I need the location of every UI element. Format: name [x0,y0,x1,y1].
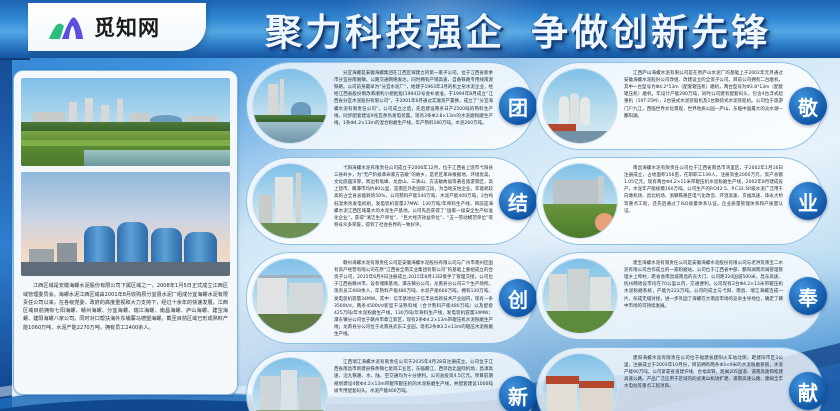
card-ruijiang-text: 江西瑞江海螺水泥有限责任公司于2035年4月28日注册成立。公司位于江西省南昌市… [328,357,493,395]
card-ruijiang[interactable]: 江西瑞江海螺水泥有限责任公司于2035年4月28日注册成立。公司位于江西省南昌市… [246,351,534,411]
blue-storage-silos-photo [21,172,230,277]
lushan-conch-plant-photo [542,68,618,144]
card-fenyi-text: 分宜海螺是安徽海螺集团在江西区域建立的第一家子公司。位于江西省新余市分宜县南厢镇… [328,68,493,127]
card-lushan-text: 江西庐山海螺水泥有限公司是在原庐山水泥厂的基础上于2002年元月通过安徽海螺水泥… [618,68,783,120]
badge-jie: 结 [499,182,537,220]
badge-xian: 献 [789,372,827,410]
card-fenyi[interactable]: 分宜海螺是安徽海螺集团在江西区域建立的第一家子公司。位于江西省新余市分宜县南厢镇… [246,62,534,150]
cement-plant-and-paddy-field-photo [21,78,230,166]
column-right: 江西庐山海螺水泥有限公司是在原庐山水泥厂的基础上于2002年元月通过安徽海螺水泥… [536,62,832,411]
poster-board: 觅知网 聚力科技强企 争做创新先锋 [0,0,840,411]
card-nanchang[interactable]: 南昌海螺水泥有限责任公司位于江西省南昌市湾里区，于2002年1月16日注册成立，… [536,157,824,245]
jianyang-conch-buildings-photo [542,353,618,411]
badge-tuan: 团 [499,87,537,125]
brand-name: 觅知网 [94,12,160,42]
card-jianbao-text: 建宝海螺水泥有限责任公司是安徽海螺水泥股份有限公司与老洪及南宝二水泥有限公司合作… [618,258,783,310]
nanchang-conch-plant-photo [542,163,618,239]
left-intro-panel: 江西区域是安徽海螺水泥股份有限公司下属区域之一，2008年1月5日正式成立江西区… [13,70,238,395]
card-ganzhou-text: 赣州海螺水泥有限责任公司是安徽海螺水泥股份有限公司与广州市南州区国有资产经营有限… [328,258,493,338]
badge-jing: 敬 [789,87,827,125]
card-yiyang[interactable]: 弋阳海螺水泥有限责任公司成立于2006年12月，位于江西省上饶市弋阳县三县岭乡，… [246,157,534,245]
ganzhou-conch-office-photo [252,258,328,334]
page-title: 聚力科技强企 争做创新先锋 [212,1,824,57]
badge-ye: 业 [789,182,827,220]
brand-logo-plate[interactable]: 觅知网 [28,3,206,51]
badge-xin: 新 [499,376,537,411]
badge-feng: 奉 [789,277,827,315]
card-yiyang-text: 弋阳海螺水泥有限责任公司成立于2006年12月，位于江西省上饶市弋阳县三县岭乡，… [328,163,493,229]
page-title-part2: 争做创新先锋 [531,2,771,56]
left-edge-stripe [0,0,12,411]
card-ganzhou[interactable]: 赣州海螺水泥有限责任公司是安徽海螺水泥股份有限公司与广州市南州区国有资产经营有限… [246,252,534,344]
fenyi-conch-plant-photo [252,68,328,144]
left-panel-body-text: 江西区域是安徽海螺水泥股份有限公司下属区域之一，2008年1月5日正式成立江西区… [21,282,230,332]
card-jianyang[interactable]: 建阳海螺水泥有限责任公司位于福建省建阳火车站北侧，距建阳市区3公里，注册成立于2… [536,347,824,411]
poster-header: 觅知网 聚力科技强企 争做创新先锋 [0,0,840,58]
card-jianbao[interactable]: 建宝海螺水泥有限责任公司是安徽海螺水泥股份有限公司与老洪及南宝二水泥有限公司合作… [536,252,824,340]
card-lushan[interactable]: 江西庐山海螺水泥有限公司是在原庐山水泥厂的基础上于2002年元月通过安徽海螺水泥… [536,62,824,150]
column-middle: 分宜海螺是安徽海螺集团在江西区域建立的第一家子公司。位于江西省新余市分宜县南厢镇… [246,62,542,411]
yiyang-conch-plant-photo [252,163,328,239]
ruijiang-conch-campus-photo [252,357,328,411]
page-title-part1: 聚力科技强企 [265,2,505,56]
mountain-logo-icon [46,13,86,41]
card-nanchang-text: 南昌海螺水泥有限责任公司位于江西省南昌市湾里区，于2002年1月16日注册成立，… [618,163,783,215]
badge-chuang: 创 [499,279,537,317]
jianbao-conch-residence-photo [542,258,618,334]
card-jianyang-text: 建阳海螺水泥有限责任公司位于福建省建阳火车站北侧，距建阳市区3公里，注册成立于2… [618,353,783,391]
